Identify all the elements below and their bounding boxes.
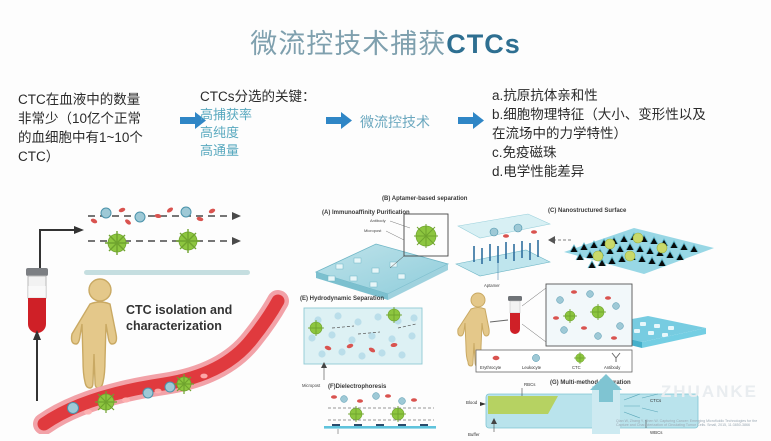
principle-line-2: b.细胞物理特征（大小、变形性以及 bbox=[492, 105, 760, 124]
svg-text:RBCs: RBCs bbox=[524, 382, 536, 387]
page-title-chinese: 微流控技术捕获 bbox=[250, 29, 446, 59]
principle-line-4: c.免疫磁珠 bbox=[492, 143, 760, 162]
svg-text:Antibody: Antibody bbox=[604, 365, 621, 370]
svg-text:Micropost: Micropost bbox=[302, 383, 321, 388]
human-body-icon bbox=[72, 279, 117, 388]
problem-line-1: CTC在血液中的数量 bbox=[18, 90, 188, 109]
svg-text:WBCs: WBCs bbox=[650, 430, 663, 435]
svg-text:Antibody: Antibody bbox=[370, 218, 386, 223]
svg-text:(C) Nanostructured Surface: (C) Nanostructured Surface bbox=[548, 208, 627, 214]
svg-text:Micropost: Micropost bbox=[364, 228, 382, 233]
key-requirements-block: CTCs分选的关键： 高捕获率 高纯度 高通量 bbox=[200, 88, 335, 160]
problem-line-3: 的血细胞中有1~10个 bbox=[18, 128, 188, 147]
method-label: 微流控技术 bbox=[360, 112, 448, 132]
svg-text:CTC: CTC bbox=[572, 365, 581, 370]
figure-area: CTC isolation and characterization bbox=[0, 186, 771, 438]
problem-line-2: 非常少（10亿个正常 bbox=[18, 109, 188, 128]
page-title: 微流控技术捕获CTCs bbox=[0, 22, 771, 61]
svg-text:Aptamer: Aptamer bbox=[484, 283, 500, 288]
principle-line-1: a.抗原抗体亲和性 bbox=[492, 86, 760, 105]
svg-text:(E) Hydrodynamic Separation: (E) Hydrodynamic Separation bbox=[300, 296, 384, 302]
figure-right-panel: (A) Immunoaffinity Purification bbox=[298, 188, 768, 436]
svg-text:Buffer: Buffer bbox=[468, 432, 480, 436]
ctc-isolation-illustration: CTC isolation and characterization bbox=[18, 186, 296, 434]
figure-citation: Qian W, Zhang Y, Chen W. Capturing Cance… bbox=[616, 419, 762, 428]
svg-text:Leukocyte: Leukocyte bbox=[522, 365, 542, 370]
svg-text:characterization: characterization bbox=[126, 319, 222, 333]
principle-line-5: d.电学性能差异 bbox=[492, 162, 760, 181]
watermark: ZHUANKE bbox=[661, 382, 758, 402]
blood-tube-icon bbox=[26, 268, 48, 333]
svg-text:(F)Dielectrophoresis: (F)Dielectrophoresis bbox=[328, 384, 387, 390]
key-heading: CTCs分选的关键： bbox=[200, 88, 335, 106]
problem-line-4: CTC） bbox=[18, 147, 188, 166]
principle-line-3: 在流场中的力学特性） bbox=[492, 124, 760, 143]
concept-row: CTC在血液中的数量 非常少（10亿个正常 的血细胞中有1~10个 CTC） C… bbox=[0, 84, 771, 184]
arrow-right-icon-2 bbox=[326, 112, 352, 129]
figure-left-panel: CTC isolation and characterization bbox=[18, 186, 296, 434]
svg-text:(G) Multi-method Integration: (G) Multi-method Integration bbox=[550, 380, 631, 386]
svg-text:(A) Immunoaffinity Purificatio: (A) Immunoaffinity Purification bbox=[322, 210, 410, 216]
principles-text-block: a.抗原抗体亲和性 b.细胞物理特征（大小、变形性以及 在流场中的力学特性） c… bbox=[492, 86, 760, 181]
key-item-2: 高纯度 bbox=[200, 124, 335, 142]
svg-text:Erythrocyte: Erythrocyte bbox=[480, 365, 502, 370]
svg-text:CTC isolation and: CTC isolation and bbox=[126, 303, 232, 317]
key-item-1: 高捕获率 bbox=[200, 106, 335, 124]
page-title-english: CTCs bbox=[446, 29, 521, 59]
key-item-3: 高通量 bbox=[200, 142, 335, 160]
slide-root: 微流控技术捕获CTCs CTC在血液中的数量 非常少（10亿个正常 的血细胞中有… bbox=[0, 0, 771, 438]
problem-text-block: CTC在血液中的数量 非常少（10亿个正常 的血细胞中有1~10个 CTC） bbox=[18, 90, 188, 166]
arrow-right-icon-3 bbox=[458, 112, 484, 129]
svg-text:(B) Aptamer-based separation: (B) Aptamer-based separation bbox=[382, 196, 468, 202]
svg-text:Blood: Blood bbox=[466, 400, 478, 405]
